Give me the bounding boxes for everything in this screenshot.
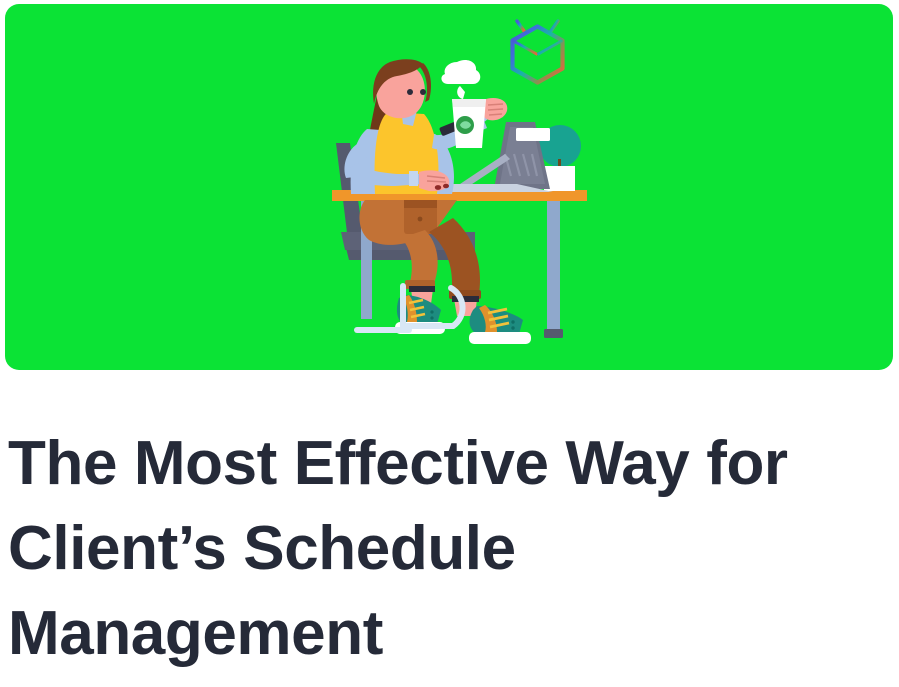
article-preview-page: The Most Effective Way for Client’s Sche… xyxy=(0,0,899,687)
eye-right xyxy=(420,89,426,95)
eye-left xyxy=(407,89,413,95)
coffee-cup xyxy=(452,99,486,148)
desk-foot-right xyxy=(544,329,563,338)
desk-leg-right xyxy=(547,201,560,333)
laptop-screen-card xyxy=(516,128,550,141)
sneaker-sole-front xyxy=(469,332,531,344)
article-hero-card[interactable] xyxy=(5,4,893,370)
desk-work-illustration xyxy=(5,4,893,370)
wrist-cuff-left xyxy=(409,171,418,186)
article-title: The Most Effective Way for Client’s Sche… xyxy=(8,421,868,676)
